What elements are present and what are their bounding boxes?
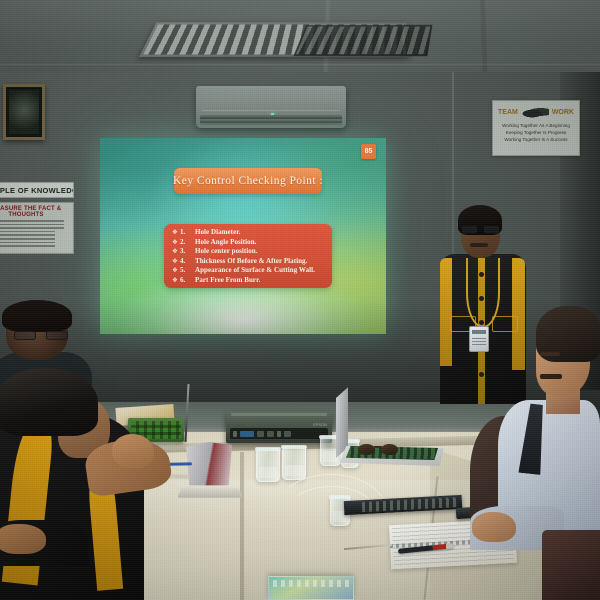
uniform-chest-pocket — [492, 316, 518, 332]
handshake-icon — [521, 107, 549, 118]
eyeglass-lens — [46, 331, 68, 340]
projector-port — [267, 431, 274, 437]
poster-text-line — [0, 242, 55, 244]
poster-measure-the-fact: MEASURE THE FACT & THOUGHTS — [0, 202, 74, 254]
meeting-room-photo: PRINCIPLE OF KNOWLEDGE MEASURE THE FACT … — [0, 0, 600, 600]
person-left-front-hand — [112, 434, 154, 468]
slide-bullet-item: ❖ 5. Appearance of Surface & Cutting Wal… — [172, 266, 332, 276]
projector-port — [284, 431, 291, 437]
projector[interactable]: EPSON — [226, 411, 332, 443]
poster-team-work-lines: Working Together As A Beginning Keeping … — [498, 122, 574, 143]
bullet-number: 4. — [180, 257, 195, 267]
projector-vga-port — [240, 431, 254, 437]
slide-number-text: 85 — [365, 148, 373, 155]
bullet-text: Appearance of Surface & Cutting Wall. — [195, 266, 315, 276]
slide-bullet-item: ❖ 6. Part Free From Burr. — [172, 276, 332, 286]
uniform-yellow-stripe — [512, 258, 525, 370]
disposable-cup[interactable] — [256, 448, 280, 482]
lanyard — [466, 258, 500, 328]
poster-text-line — [0, 238, 55, 240]
poster-text-line — [0, 224, 64, 226]
poster-text-line — [0, 227, 64, 229]
poster-team-text: TEAM — [498, 109, 518, 116]
slide-title-text: Key Control Checking Point : — [173, 175, 323, 187]
eyeglass-lens — [14, 331, 36, 340]
ac-body-line — [202, 110, 340, 111]
projector-highlight — [231, 413, 327, 416]
slide-title-banner: Key Control Checking Point : — [174, 168, 322, 194]
bullet-text: Hole center position. — [195, 247, 258, 257]
projector-port — [257, 431, 264, 437]
poster-line: Working Together Is A Success — [498, 136, 574, 143]
ceiling-light-panel-secondary-icon — [293, 25, 432, 56]
eyeglass-lens — [484, 226, 499, 233]
air-conditioner-icon — [196, 86, 346, 128]
bullet-marker-icon: ❖ — [172, 228, 180, 238]
bullet-marker-icon: ❖ — [172, 238, 180, 248]
eyeglasses-icon — [14, 331, 68, 340]
bullet-text: Thickness Of Before & After Plating. — [195, 257, 307, 267]
bullet-number: 5. — [180, 266, 195, 276]
projector-brand-label: EPSON — [313, 422, 327, 427]
disposable-cup[interactable] — [282, 446, 306, 480]
bullet-number: 1. — [180, 228, 195, 238]
poster-heading-text: PRINCIPLE OF KNOWLEDGE — [0, 186, 74, 195]
slide-bullet-item: ❖ 1. Hole Diameter. — [172, 228, 332, 238]
slide-bullet-item: ❖ 4. Thickness Of Before & After Plating… — [172, 257, 332, 267]
poster-text-line — [0, 220, 64, 222]
id-badge — [469, 326, 489, 352]
uniform-yellow-stripe — [440, 258, 452, 366]
sunglasses-lens — [358, 444, 375, 455]
projector-port — [233, 431, 237, 437]
slide-bullet-item: ❖ 2. Hole Angle Position. — [172, 238, 332, 248]
bullet-text: Part Free From Burr. — [195, 276, 260, 286]
bullet-number: 6. — [180, 276, 195, 286]
poster-text-line — [0, 231, 55, 233]
person-right-eyebrow — [540, 352, 560, 356]
person-right-moustache — [540, 374, 562, 379]
bullet-marker-icon: ❖ — [172, 257, 180, 267]
sunglasses-lens — [381, 444, 398, 455]
projector-port-panel — [230, 428, 328, 439]
poster-line: Working Together As A Beginning — [498, 122, 574, 129]
bullet-number: 2. — [180, 238, 195, 248]
bullet-marker-icon: ❖ — [172, 266, 180, 276]
person-right-hand — [472, 512, 516, 542]
person-left-front-hand — [0, 524, 46, 554]
sunglasses[interactable] — [358, 444, 398, 455]
chair-seat[interactable] — [542, 530, 600, 600]
poster-line: Keeping Together Is Progress — [498, 129, 574, 136]
tablet-stand-base[interactable] — [177, 485, 243, 497]
eyeglasses-icon — [462, 226, 499, 233]
poster-team-work: TEAM WORK Working Together As A Beginnin… — [492, 100, 580, 156]
uniform-button — [479, 372, 484, 377]
bullet-text: Hole Diameter. — [195, 228, 241, 238]
bullet-marker-icon: ❖ — [172, 247, 180, 257]
poster-work-text: WORK — [552, 109, 574, 116]
eyeglass-lens — [462, 226, 477, 233]
table-seam — [240, 452, 244, 600]
cd-case[interactable] — [268, 576, 354, 600]
poster-text-line — [0, 234, 55, 236]
projector-port — [277, 431, 281, 437]
bullet-text: Hole Angle Position. — [195, 238, 256, 248]
person-left-front-hair — [0, 368, 98, 436]
poster-principle-of-knowledge: PRINCIPLE OF KNOWLEDGE — [0, 182, 74, 198]
slide-bullet-panel: ❖ 1. Hole Diameter. ❖ 2. Hole Angle Posi… — [164, 224, 332, 288]
poster-team-work-header: TEAM WORK — [498, 105, 574, 119]
bullet-marker-icon: ❖ — [172, 276, 180, 286]
person-left-back-hair — [2, 300, 72, 332]
poster-subheading-text: MEASURE THE FACT & THOUGHTS — [0, 206, 69, 218]
bullet-number: 3. — [180, 247, 195, 257]
ac-vent-louvers — [200, 115, 342, 125]
framed-picture — [3, 84, 45, 140]
slide-bullet-item: ❖ 3. Hole center position. — [172, 247, 332, 257]
poster-text-line — [0, 245, 55, 247]
person-standing-moustache — [470, 243, 488, 247]
ceiling-seam — [0, 64, 600, 65]
slide-number-badge: 85 — [361, 144, 376, 159]
